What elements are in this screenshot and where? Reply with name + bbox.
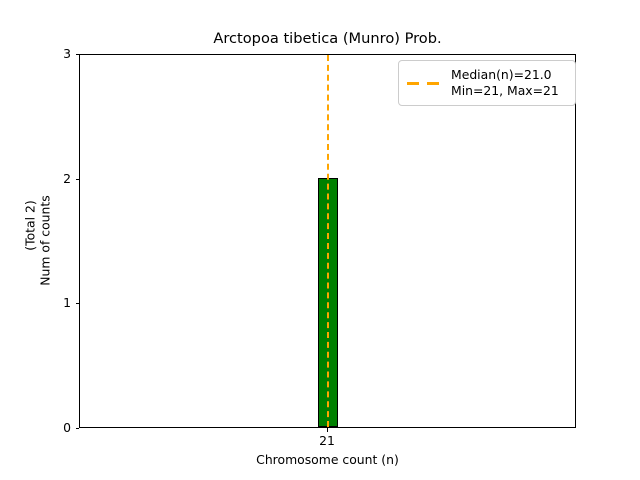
plot-area xyxy=(79,54,576,428)
legend-label-minmax: Min=21, Max=21 xyxy=(451,83,559,99)
legend-item-median: Median(n)=21.0 Min=21, Max=21 xyxy=(407,67,567,99)
xtick-label-21: 21 xyxy=(297,434,357,448)
ytick-label-0: 0 xyxy=(31,422,71,434)
ytick-mark-1 xyxy=(76,303,80,304)
ytick-label-3: 3 xyxy=(31,48,71,60)
x-axis-label: Chromosome count (n) xyxy=(79,452,576,467)
y-axis-label: Num of counts xyxy=(39,91,52,391)
median-line xyxy=(327,55,329,427)
legend-label-median: Median(n)=21.0 xyxy=(451,67,559,83)
ytick-mark-2 xyxy=(76,179,80,180)
chart-figure: Arctopoa tibetica (Munro) Prob. 3 2 1 0 … xyxy=(0,0,640,480)
ytick-mark-0 xyxy=(76,428,80,429)
ytick-mark-3 xyxy=(76,54,80,55)
chart-title: Arctopoa tibetica (Munro) Prob. xyxy=(79,30,576,47)
dashed-line-icon xyxy=(407,76,443,90)
legend-text-block: Median(n)=21.0 Min=21, Max=21 xyxy=(451,67,559,99)
legend: Median(n)=21.0 Min=21, Max=21 xyxy=(398,60,576,106)
y-axis-label-total: (Total 2) xyxy=(24,76,37,376)
xtick-mark-21 xyxy=(327,428,328,432)
